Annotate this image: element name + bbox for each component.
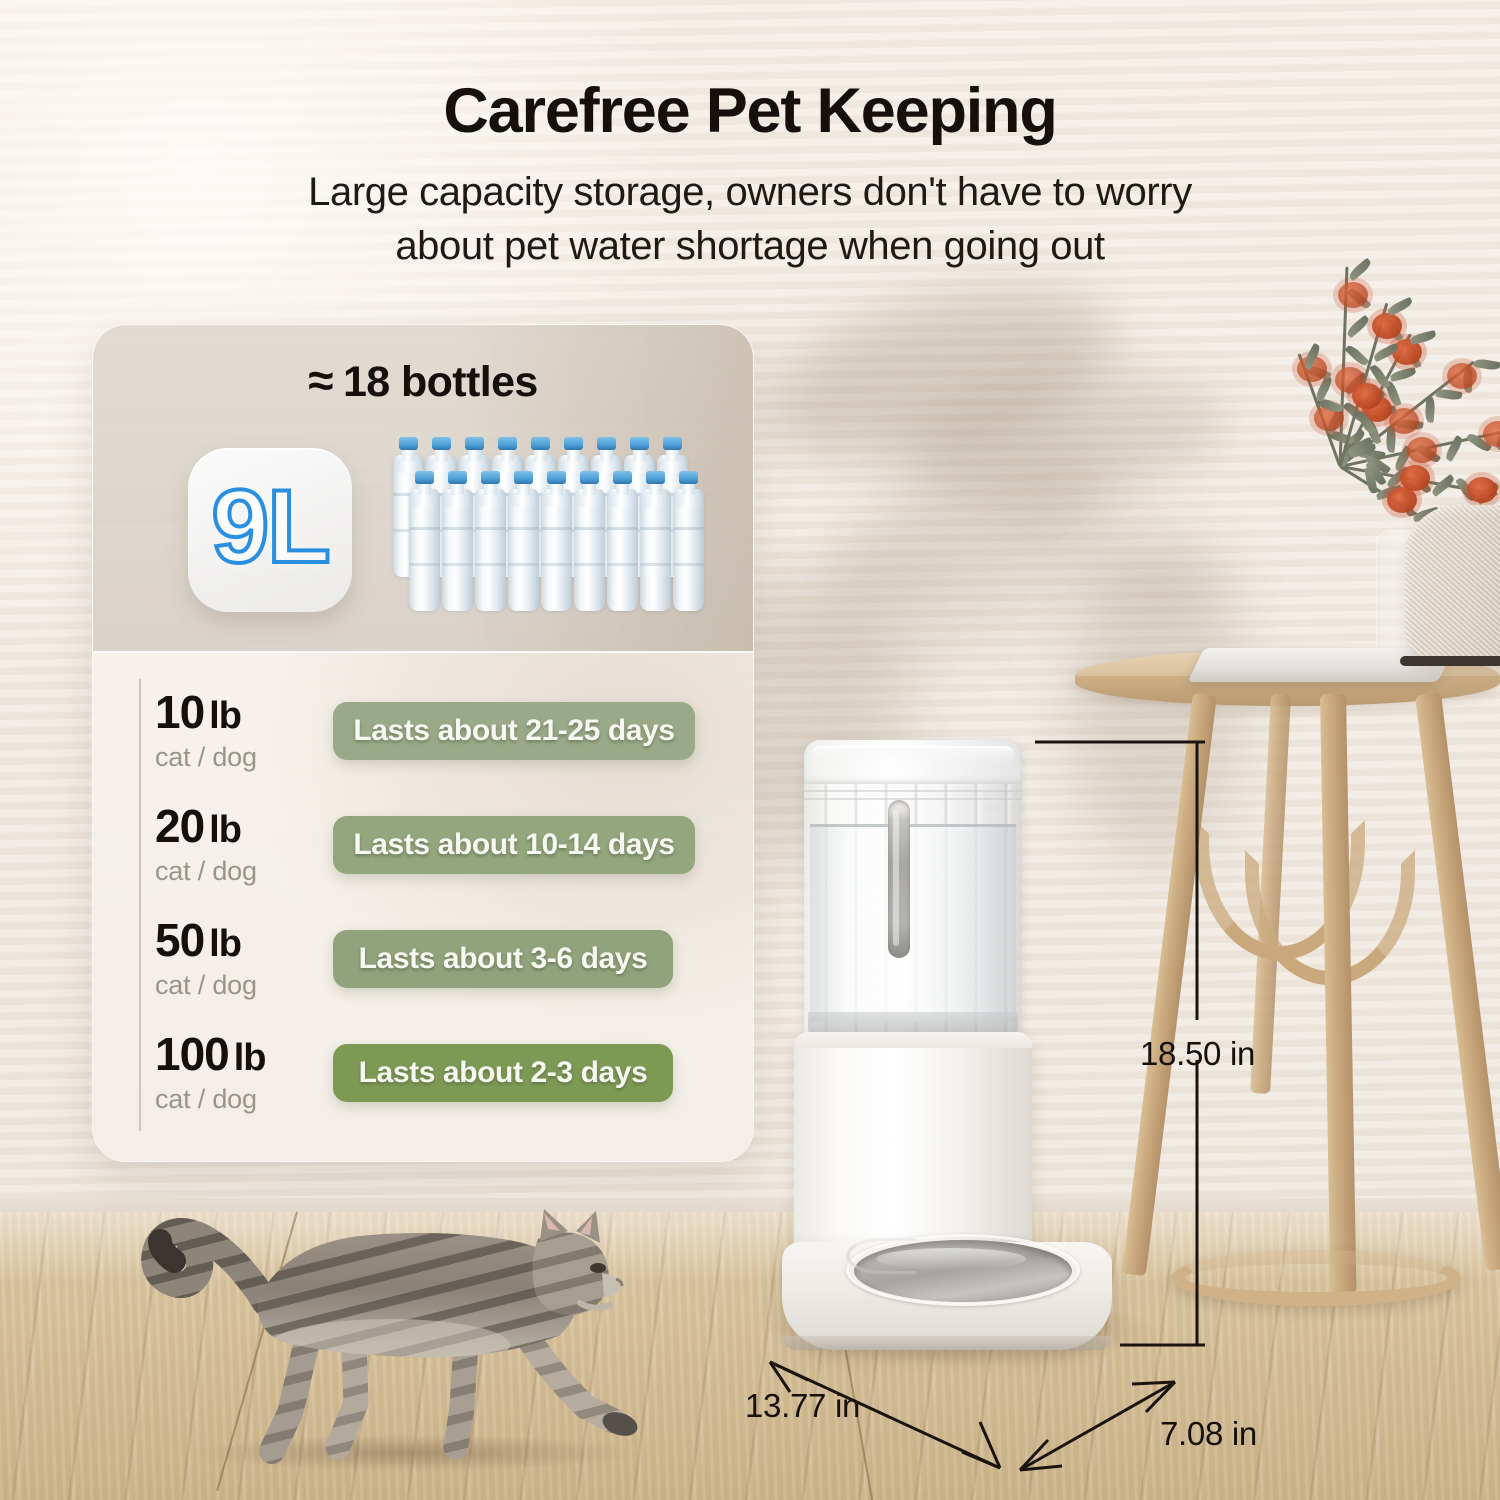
water-bottle-icon: [442, 471, 473, 611]
capacity-info-card: ≈18 bottles 9L 10lbcat / dogLasts about …: [92, 324, 754, 1162]
plant-leaf: [1424, 396, 1435, 423]
duration-table: 10lbcat / dogLasts about 21-25 days20lbc…: [93, 661, 753, 1161]
page-title: Carefree Pet Keeping: [0, 78, 1500, 144]
bottle-cap: [613, 471, 632, 484]
bottle-body: [475, 489, 506, 611]
bottle-cap: [514, 471, 533, 484]
plant-leaf: [1410, 330, 1437, 345]
bottle-cap: [481, 471, 500, 484]
header-block: Carefree Pet Keeping Large capacity stor…: [0, 78, 1500, 273]
plant-blossom: [1338, 282, 1368, 308]
plant-blossom: [1387, 487, 1417, 513]
weight-label: 100lbcat / dog: [93, 1031, 333, 1115]
table-leg: [1320, 694, 1356, 1294]
bottle-body: [508, 489, 539, 611]
table-foot-ring: [1171, 1250, 1461, 1306]
bottle-cap: [531, 437, 550, 450]
pet-type-label: cat / dog: [155, 742, 333, 773]
cat-illustration: [140, 1145, 670, 1475]
cat-muzzle: [602, 1273, 622, 1297]
bottles-equivalence-label: ≈18 bottles: [93, 353, 753, 407]
smart-speaker-base: [1400, 656, 1500, 666]
duration-pill: Lasts about 21-25 days: [333, 702, 695, 760]
bottle-body: [607, 489, 638, 611]
weight-unit: lb: [209, 923, 241, 965]
bottle-body: [640, 489, 671, 611]
weight-value: 20lb: [155, 803, 333, 849]
tank-ring: [804, 790, 1022, 792]
water-bottle-icon: [409, 471, 440, 611]
table-row: 20lbcat / dogLasts about 10-14 days: [93, 789, 753, 901]
bottle-cap: [580, 471, 599, 484]
weight-value: 100lb: [155, 1031, 333, 1077]
bottle-cap: [630, 437, 649, 450]
water-bottle-icon: [541, 471, 572, 611]
plant-leaf: [1386, 296, 1413, 315]
tank-lid: [804, 740, 1022, 784]
cat-eye: [590, 1263, 606, 1273]
smart-speaker: [1405, 505, 1500, 663]
plant-blossom: [1447, 363, 1477, 389]
water-level-window-highlight: [893, 810, 899, 946]
subtitle-line-2: about pet water shortage when going out: [0, 220, 1500, 274]
bottle-cap: [646, 471, 665, 484]
plant-leaf: [1443, 435, 1464, 462]
weight-unit: lb: [209, 695, 241, 737]
water-bottle-icon: [640, 471, 671, 611]
water-level-window: [888, 800, 910, 958]
capacity-badge-text: 9L: [211, 475, 328, 585]
bottle-cap: [679, 471, 698, 484]
table-row: 50lbcat / dogLasts about 3-6 days: [93, 903, 753, 1015]
water-bottle-icon: [508, 471, 539, 611]
capacity-badge: 9L: [188, 448, 352, 612]
bottles-count: 18: [343, 358, 390, 406]
pet-type-label: cat / dog: [155, 970, 333, 1001]
plant-leaf: [1390, 367, 1417, 382]
plant-leaf: [1345, 343, 1370, 368]
plant-leaf: [1435, 388, 1462, 401]
water-bottles-group: [393, 437, 713, 627]
water-bottle-icon: [574, 471, 605, 611]
bottles-word: bottles: [401, 358, 538, 406]
pet-water-dispenser: [780, 740, 1160, 1360]
bottle-body: [409, 489, 440, 611]
water-bottle-icon: [475, 471, 506, 611]
bottle-cap: [498, 437, 517, 450]
weight-unit: lb: [234, 1037, 266, 1079]
pet-type-label: cat / dog: [155, 856, 333, 887]
duration-pill: Lasts about 3-6 days: [333, 930, 673, 988]
bottle-cap: [547, 471, 566, 484]
table-leg: [1415, 692, 1500, 1271]
approximately-icon: ≈: [308, 354, 333, 406]
weight-label: 10lbcat / dog: [93, 689, 333, 773]
bottle-cap: [415, 471, 434, 484]
table-row: 10lbcat / dogLasts about 21-25 days: [93, 675, 753, 787]
bowl-clip: [846, 1238, 916, 1274]
pet-type-label: cat / dog: [155, 1084, 333, 1115]
table-row: 100lbcat / dogLasts about 2-3 days: [93, 1017, 753, 1129]
bottle-cap: [663, 437, 682, 450]
tabby-cat: [140, 1145, 670, 1475]
page-subtitle: Large capacity storage, owners don't hav…: [0, 166, 1500, 273]
weight-label: 20lbcat / dog: [93, 803, 333, 887]
plant-blossom: [1467, 477, 1497, 503]
scene-stage: Carefree Pet Keeping Large capacity stor…: [0, 0, 1500, 1500]
tank-ring: [804, 798, 1022, 800]
duration-pill: Lasts about 10-14 days: [333, 816, 695, 874]
water-bottle-icon: [673, 471, 704, 611]
plant-leaf: [1473, 358, 1500, 371]
subtitle-line-1: Large capacity storage, owners don't hav…: [0, 166, 1500, 220]
bottle-cap: [399, 437, 418, 450]
bottle-cap: [564, 437, 583, 450]
water-level: [810, 824, 1016, 1022]
bottle-body: [541, 489, 572, 611]
weight-label: 50lbcat / dog: [93, 917, 333, 1001]
duration-pill: Lasts about 2-3 days: [333, 1044, 673, 1102]
bottle-body: [574, 489, 605, 611]
bottle-cap: [465, 437, 484, 450]
bottle-body: [673, 489, 704, 611]
plant-blossom: [1372, 313, 1402, 339]
bottle-cap: [448, 471, 467, 484]
water-tank: [804, 740, 1022, 1040]
weight-value: 50lb: [155, 917, 333, 963]
plant-leaf: [1345, 315, 1371, 339]
bottle-cap: [597, 437, 616, 450]
water-bottle-icon: [607, 471, 638, 611]
weight-unit: lb: [209, 809, 241, 851]
weight-value: 10lb: [155, 689, 333, 735]
plant-blossom: [1352, 383, 1382, 409]
bottle-cap: [432, 437, 451, 450]
bottle-body: [442, 489, 473, 611]
dispenser-body-top: [794, 1032, 1032, 1048]
